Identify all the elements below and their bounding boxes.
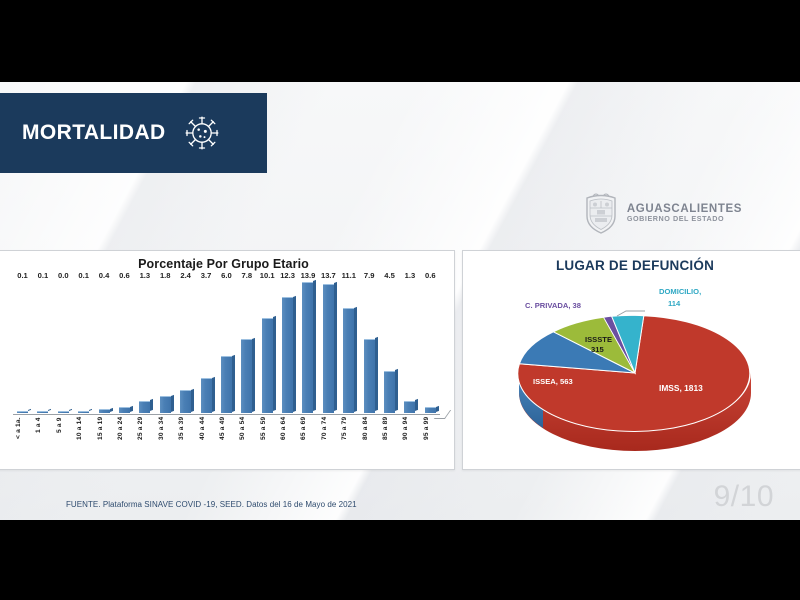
pie-chart-title: LUGAR DE DEFUNCIÓN	[463, 258, 800, 273]
gov-logo-text: AGUASCALIENTES GOBIERNO DEL ESTADO	[627, 203, 742, 224]
page-title: MORTALIDAD	[22, 121, 166, 145]
bar-item: 2.4	[178, 281, 193, 413]
bar-rect	[180, 390, 191, 413]
bar-item: 10.1	[260, 281, 275, 413]
bar-value-label: 7.9	[364, 271, 375, 280]
bar-rect	[343, 308, 354, 413]
pie-chart-panel: LUGAR DE DEFUNCIÓN	[462, 250, 800, 470]
pie-chart-plot: DOMICILIO, 114 C. PRIVADA, 38 ISSSTE 315…	[463, 283, 800, 465]
bar-chart-panel: Porcentaje Por Grupo Etario 0.10.10.00.1…	[0, 250, 455, 470]
bar-value-label: 2.4	[180, 271, 191, 280]
letterbox-bottom	[0, 520, 800, 600]
bar-category-label: 55 a 59	[260, 417, 275, 463]
pie-label-domicilio: DOMICILIO,	[659, 287, 701, 296]
bar-rect	[262, 318, 273, 413]
bar-value-label: 0.1	[78, 271, 89, 280]
bar-value-label: 0.6	[425, 271, 436, 280]
bar-category-label: 15 a 19	[97, 417, 112, 463]
bar-category-label: 30 a 34	[158, 417, 173, 463]
bar-item: 1.8	[158, 281, 173, 413]
pie-label-imss: IMSS, 1813	[659, 383, 703, 393]
pie-label-domicilio-value: 114	[668, 299, 680, 308]
pie-label-issste-value: 315	[591, 345, 604, 354]
bar-category-label: 20 a 24	[117, 417, 132, 463]
bar-category-label: 70 a 74	[321, 417, 336, 463]
bar-rect	[323, 284, 334, 413]
bar-item: 0.1	[15, 281, 30, 413]
bar-value-label: 12.3	[280, 271, 295, 280]
bar-rect	[119, 407, 130, 413]
coat-of-arms-icon	[584, 192, 618, 234]
bar-item: 0.0	[56, 281, 71, 413]
bar-item: 7.8	[239, 281, 254, 413]
bar-rect	[99, 409, 110, 413]
letterbox-top	[0, 0, 800, 82]
bar-item: 0.4	[97, 281, 112, 413]
bar-value-label: 13.9	[301, 271, 316, 280]
bar-category-label: 85 a 89	[382, 417, 397, 463]
bar-value-label: 0.1	[38, 271, 49, 280]
bar-rect	[384, 371, 395, 413]
pie-chart-svg	[485, 289, 785, 459]
presentation-slide: MORTALIDAD	[0, 82, 800, 520]
bar-item: 1.3	[402, 281, 417, 413]
bar-rect	[302, 282, 313, 413]
bar-item: 0.6	[423, 281, 438, 413]
bar-category-label: 10 a 14	[76, 417, 91, 463]
bar-item: 4.5	[382, 281, 397, 413]
bar-value-label: 4.5	[384, 271, 395, 280]
page-number: 9/10	[714, 480, 774, 514]
bar-rect	[425, 407, 436, 413]
bar-item: 0.1	[35, 281, 50, 413]
bar-category-label: 50 a 54	[239, 417, 254, 463]
bar-item: 12.3	[280, 281, 295, 413]
bar-item: 3.7	[199, 281, 214, 413]
bar-series: 0.10.10.00.10.40.61.31.82.43.76.07.810.1…	[15, 281, 438, 413]
bar-value-label: 6.0	[221, 271, 232, 280]
bar-rect	[17, 411, 28, 413]
bar-value-label: 10.1	[260, 271, 275, 280]
bar-value-label: 13.7	[321, 271, 336, 280]
bar-category-label: 40 a 44	[199, 417, 214, 463]
bar-item: 11.1	[341, 281, 356, 413]
pie-label-issea: ISSEA, 563	[533, 377, 573, 386]
bar-chart-axis	[13, 414, 440, 415]
bar-chart-plot: 0.10.10.00.10.40.61.31.82.43.76.07.810.1…	[3, 277, 446, 465]
bar-category-label: 60 a 64	[280, 417, 295, 463]
bar-rect	[201, 378, 212, 413]
section-header-band: MORTALIDAD	[0, 93, 267, 173]
gov-logo: AGUASCALIENTES GOBIERNO DEL ESTADO	[584, 192, 742, 234]
bar-rect	[221, 356, 232, 413]
bar-category-label: 5 a 9	[56, 417, 71, 463]
bar-category-label: < a 1a.	[15, 417, 30, 463]
bar-rect	[78, 411, 89, 413]
bar-item: 7.9	[362, 281, 377, 413]
bar-item: 1.3	[137, 281, 152, 413]
bar-category-label: 80 a 84	[362, 417, 377, 463]
bar-item: 6.0	[219, 281, 234, 413]
bar-category-labels: < a 1a.1 a 45 a 910 a 1415 a 1920 a 2425…	[15, 417, 438, 463]
bar-rect	[282, 297, 293, 413]
bar-item: 0.1	[76, 281, 91, 413]
bar-chart-title: Porcentaje Por Grupo Etario	[0, 257, 454, 271]
bar-category-label: 90 a 94	[402, 417, 417, 463]
bar-value-label: 1.8	[160, 271, 171, 280]
bar-item: 13.9	[300, 281, 315, 413]
bar-category-label: 75 a 79	[341, 417, 356, 463]
bar-value-label: 1.3	[405, 271, 416, 280]
pie-label-privada: C. PRIVADA, 38	[525, 301, 581, 310]
bar-category-label: 65 a 69	[300, 417, 315, 463]
bar-category-label: 1 a 4	[35, 417, 50, 463]
bar-category-label: 45 a 49	[219, 417, 234, 463]
bar-rect	[58, 411, 69, 413]
slide-stage: MORTALIDAD	[0, 0, 800, 600]
bar-value-label: 0.0	[58, 271, 69, 280]
bar-value-label: 3.7	[201, 271, 212, 280]
bar-value-label: 7.8	[242, 271, 253, 280]
bar-rect	[160, 396, 171, 413]
bar-value-label: 1.3	[140, 271, 151, 280]
bar-rect	[364, 339, 375, 413]
bar-value-label: 11.1	[342, 271, 356, 280]
bar-category-label: 95 a 99	[423, 417, 438, 463]
bar-value-label: 0.4	[99, 271, 110, 280]
bar-item: 13.7	[321, 281, 336, 413]
bar-rect	[37, 411, 48, 413]
gov-subtitle: GOBIERNO DEL ESTADO	[627, 215, 742, 223]
bar-category-label: 25 a 29	[137, 417, 152, 463]
bar-value-label: 0.1	[17, 271, 28, 280]
pie-label-issste: ISSSTE	[585, 335, 612, 344]
bar-item: 0.6	[117, 281, 132, 413]
bar-value-label: 0.6	[119, 271, 130, 280]
bar-rect	[241, 339, 252, 413]
bar-rect	[404, 401, 415, 413]
source-note: FUENTE. Plataforma SINAVE COVID -19, SEE…	[66, 500, 357, 509]
virus-icon	[182, 113, 222, 153]
bar-rect	[139, 401, 150, 413]
bar-category-label: 35 a 39	[178, 417, 193, 463]
